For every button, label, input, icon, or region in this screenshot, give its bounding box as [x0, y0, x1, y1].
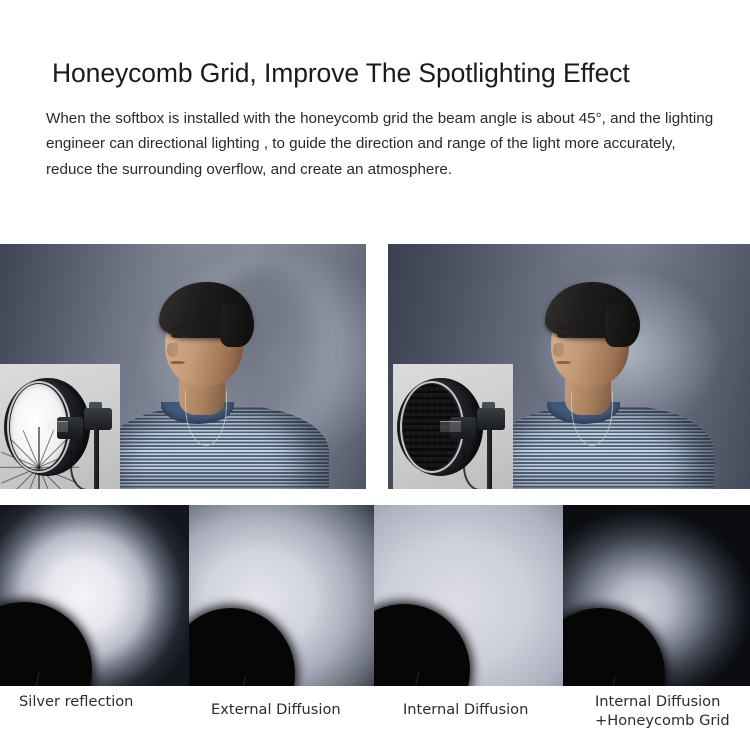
power-cable [463, 450, 491, 489]
caption-internal-diffusion: Internal Diffusion [403, 700, 528, 719]
intro-paragraph: When the softbox is installed with the h… [46, 106, 722, 182]
header-section: Honeycomb Grid, Improve The Spotlighting… [0, 0, 750, 244]
light-spread-comparison-row [0, 505, 750, 686]
photo-portrait-without-grid [0, 244, 366, 489]
model-nose [553, 343, 564, 357]
page-title: Honeycomb Grid, Improve The Spotlighting… [52, 58, 732, 89]
spread-external-diffusion [189, 505, 374, 686]
softbox-rib [390, 671, 420, 686]
caption-row: Silver reflection External Diffusion Int… [0, 686, 750, 750]
softbox-rib [9, 671, 39, 686]
model-nose [167, 343, 178, 357]
spread-silver-reflection [0, 505, 189, 686]
power-cable [70, 450, 98, 489]
spread-internal-diffusion [374, 505, 563, 686]
softbox-brand-plate [47, 421, 68, 432]
strobe-head [477, 408, 505, 430]
softbox-rib [586, 676, 616, 686]
softbox-brand-plate [440, 421, 461, 432]
softbox-plain-inset [0, 364, 120, 489]
softbox-rib [217, 675, 247, 686]
caption-silver-reflection: Silver reflection [19, 692, 133, 711]
portrait-comparison-row [0, 244, 750, 489]
model-hair-side [605, 303, 639, 347]
spread-internal-diffusion-honeycomb [563, 505, 750, 686]
strobe-head [84, 408, 112, 430]
caption-internal-diffusion-honeycomb: Internal Diffusion +Honeycomb Grid [595, 692, 730, 730]
softbox-honeycomb-inset [393, 364, 513, 489]
model-hair-side [220, 303, 255, 347]
caption-external-diffusion: External Diffusion [211, 700, 341, 719]
photo-portrait-with-grid [388, 244, 750, 489]
